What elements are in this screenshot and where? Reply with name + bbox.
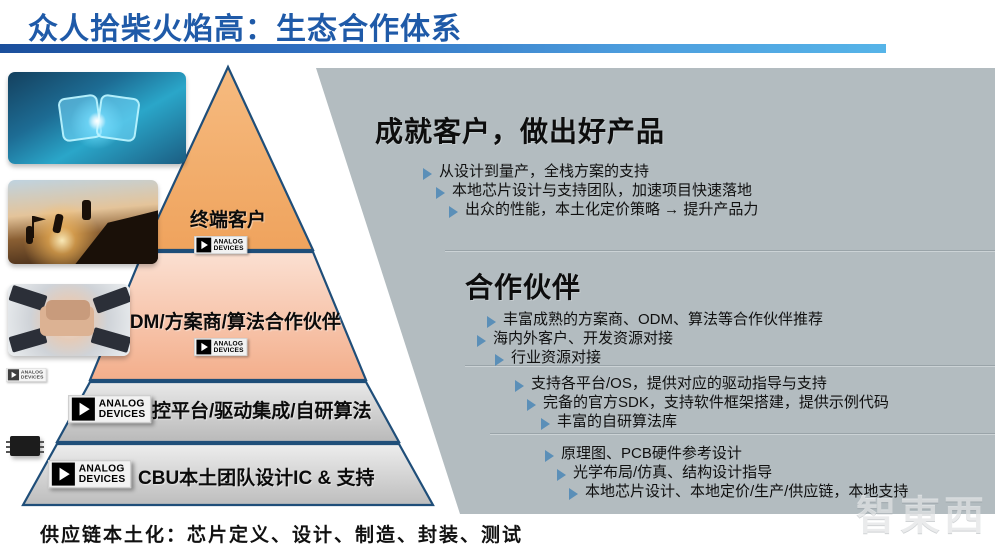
stacked-hands-shape bbox=[46, 300, 90, 320]
flag-pole-shape bbox=[32, 216, 34, 238]
analog-devices-logo-watermark: ANALOG DEVICES bbox=[6, 368, 71, 390]
handshake-illustration bbox=[8, 72, 186, 164]
analog-devices-logo: ANALOG DEVICES bbox=[194, 338, 247, 356]
panel-block-partners: 合作伙伴 bbox=[465, 266, 581, 306]
analog-devices-logo: ANALOG DEVICES bbox=[68, 395, 151, 423]
adi-triangle-icon bbox=[196, 340, 211, 355]
triangle-bullet-icon bbox=[545, 450, 554, 462]
climber-silhouette bbox=[82, 200, 91, 220]
adi-triangle-icon bbox=[72, 398, 95, 421]
bullet-item: 行业资源对接 bbox=[495, 349, 823, 367]
title-underline-bar bbox=[0, 44, 886, 53]
triangle-bullet-icon bbox=[527, 399, 536, 411]
bullet-item: 光学布局/仿真、结构设计指导 bbox=[557, 464, 908, 482]
pyramid-tier-2-label: ODM/方案商/算法合作伙伴 bbox=[96, 307, 360, 334]
footer-note: 供应链本土化：芯片定义、设计、制造、封装、测试 bbox=[40, 520, 523, 547]
triangle-bullet-icon bbox=[515, 380, 524, 392]
panel-divider-1 bbox=[445, 250, 995, 252]
bullet-item: 原理图、PCB硬件参考设计 bbox=[545, 445, 908, 463]
pyramid-tier-1-label: 终端客户 bbox=[136, 205, 320, 232]
pyramid-tier-3-label: 主控平台/驱动集成/自研算法 bbox=[133, 396, 372, 423]
mountain-climb-photo bbox=[8, 180, 158, 264]
bullet-item: 本地芯片设计与支持团队，加速项目快速落地 bbox=[436, 182, 758, 200]
adi-wordmark: ANALOG DEVICES bbox=[79, 463, 126, 485]
watermark-domain-text: zhidx.com bbox=[856, 536, 988, 545]
triangle-bullet-icon bbox=[541, 418, 550, 430]
adi-triangle-icon bbox=[196, 238, 211, 253]
panel-bullets-4: 原理图、PCB硬件参考设计 光学布局/仿真、结构设计指导 本地芯片设计、本地定价… bbox=[545, 445, 908, 502]
bullet-item: 丰富的自研算法库 bbox=[541, 413, 889, 431]
bullet-item: 出众的性能，本土化定价策略 → 提升产品力 bbox=[449, 201, 758, 219]
panel-bullets-1: 从设计到量产，全栈方案的支持 本地芯片设计与支持团队，加速项目快速落地 出众的性… bbox=[423, 163, 758, 220]
panel-bullets-3: 支持各平台/OS，提供对应的驱动指导与支持 完备的官方SDK，支持软件框架搭建，… bbox=[515, 375, 889, 432]
adi-wordmark: ANALOG DEVICES bbox=[214, 238, 244, 252]
bullet-item: 从设计到量产，全栈方案的支持 bbox=[423, 163, 758, 181]
adi-triangle-icon bbox=[8, 369, 19, 380]
adi-wordmark: ANALOG DEVICES bbox=[99, 398, 146, 420]
sleeve-shape bbox=[92, 286, 130, 313]
pyramid-tier-4-label: CBU本土团队设计IC & 支持 bbox=[138, 463, 374, 490]
rock-slope-shape bbox=[66, 206, 158, 264]
panel-divider-3 bbox=[490, 433, 995, 435]
bullet-item: 完备的官方SDK，支持软件框架搭建，提供示例代码 bbox=[527, 394, 889, 412]
triangle-bullet-icon bbox=[487, 316, 496, 328]
triangle-bullet-icon bbox=[569, 488, 578, 500]
triangle-bullet-icon bbox=[477, 335, 486, 347]
bullet-item: 支持各平台/OS，提供对应的驱动指导与支持 bbox=[515, 375, 889, 393]
climber-silhouette bbox=[52, 213, 64, 233]
adi-triangle-icon bbox=[52, 463, 75, 486]
triangle-bullet-icon bbox=[449, 206, 458, 218]
bullet-item: 海内外客户、开发资源对接 bbox=[477, 330, 823, 348]
triangle-bullet-icon bbox=[495, 354, 504, 366]
adi-wordmark: ANALOG DEVICES bbox=[214, 340, 244, 354]
panel-bullets-2: 丰富成熟的方案商、ODM、算法等合作伙伴推荐 海内外客户、开发资源对接 行业资源… bbox=[473, 311, 823, 368]
handshake-sparkle bbox=[88, 112, 106, 130]
page-title: 众人拾柴火焰高：生态合作体系 bbox=[28, 4, 462, 48]
chip-icon bbox=[10, 436, 40, 456]
sleeve-shape bbox=[91, 327, 130, 353]
triangle-bullet-icon bbox=[557, 469, 566, 481]
panel-heading-2: 合作伙伴 bbox=[465, 266, 581, 306]
analog-devices-logo: ANALOG DEVICES bbox=[48, 460, 131, 488]
bullet-item: 本地芯片设计、本地定价/生产/供应链，本地支持 bbox=[569, 483, 908, 501]
flag-shape bbox=[34, 216, 46, 224]
bullet-item: 丰富成熟的方案商、ODM、算法等合作伙伴推荐 bbox=[487, 311, 823, 329]
adi-wordmark: ANALOG DEVICES bbox=[21, 370, 44, 381]
team-hands-photo bbox=[8, 284, 130, 356]
analog-devices-logo: ANALOG DEVICES bbox=[194, 236, 247, 254]
